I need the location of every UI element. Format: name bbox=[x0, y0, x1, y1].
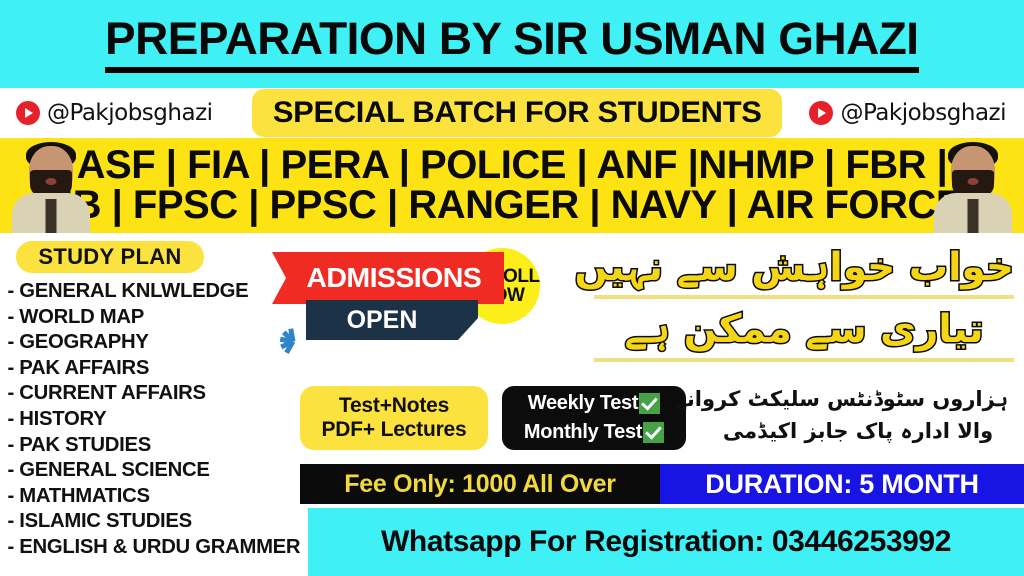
list-item: - GEOGRAPHY bbox=[8, 329, 305, 355]
youtube-icon bbox=[16, 101, 40, 125]
list-item: - CURRENT AFFAIRS bbox=[8, 380, 305, 406]
admissions-open-label: OPEN bbox=[347, 306, 418, 335]
admissions-ribbon: ADMISSIONS bbox=[272, 252, 504, 304]
photo-mouth bbox=[46, 178, 57, 185]
list-item: - ENGLISH & URDU GRAMMER bbox=[8, 534, 305, 560]
exam-list: ASF | FIA | PERA | POLICE | ANF |NHMP | … bbox=[62, 146, 962, 224]
exam-list-band: ASF | FIA | PERA | POLICE | ANF |NHMP | … bbox=[0, 138, 1024, 233]
poster-canvas: PREPARATION BY SIR USMAN GHAZI @Pakjobsg… bbox=[0, 0, 1024, 576]
special-batch-banner: SPECIAL BATCH FOR STUDENTS bbox=[252, 89, 782, 137]
list-item: - HISTORY bbox=[8, 406, 305, 432]
weekly-test-row: Weekly Test bbox=[528, 390, 660, 417]
whatsapp-contact-bar[interactable]: Whatsapp For Registration: 03446253992 bbox=[308, 508, 1024, 576]
urdu-subtext: ہزاروں سٹوڈنٹس سلیکٹ کروانے والا ادارہ پ… bbox=[708, 384, 1008, 447]
urdu-quote-line-2: تیاری سے ممکن ہے bbox=[594, 304, 1014, 361]
materials-line-2: PDF+ Lectures bbox=[321, 418, 466, 442]
urdu-quote-line-1: خواب خواہش سے نہیں bbox=[594, 242, 1014, 299]
photo-tie bbox=[46, 199, 57, 233]
list-item: - WORLD MAP bbox=[8, 304, 305, 330]
instructor-photo-left bbox=[12, 138, 90, 233]
exam-line-1: ASF | FIA | PERA | POLICE | ANF |NHMP | … bbox=[62, 146, 962, 185]
monthly-test-label: Monthly Test bbox=[524, 421, 642, 444]
list-item: - GENERAL KNLWLEDGE bbox=[8, 278, 305, 304]
materials-badge: Test+Notes PDF+ Lectures bbox=[300, 386, 488, 450]
photo-tie bbox=[968, 199, 979, 233]
special-batch-label: SPECIAL BATCH FOR STUDENTS bbox=[273, 96, 762, 130]
exam-line-2: IB | FPSC | PPSC | RANGER | NAVY | AIR F… bbox=[62, 186, 962, 225]
youtube-handle-right[interactable]: @Pakjobsghazi bbox=[809, 94, 1006, 132]
study-plan-label: STUDY PLAN bbox=[38, 244, 181, 270]
youtube-handle-label-left: @Pakjobsghazi bbox=[47, 100, 213, 126]
admissions-banner: ENROLL NOW ADMISSIONS OPEN bbox=[268, 248, 568, 358]
monthly-test-row: Monthly Test bbox=[524, 419, 664, 446]
admissions-open-box: OPEN bbox=[306, 300, 458, 340]
urdu-subtext-line-2: والا ادارہ پاک جابز اکیڈمی bbox=[708, 416, 1008, 448]
photo-mouth bbox=[968, 178, 979, 185]
page-title: PREPARATION BY SIR USMAN GHAZI bbox=[105, 16, 919, 73]
urdu-quote: خواب خواہش سے نہیں تیاری سے ممکن ہے bbox=[594, 242, 1014, 367]
sparkle-icon bbox=[278, 326, 312, 356]
youtube-handle-left[interactable]: @Pakjobsghazi bbox=[16, 94, 213, 132]
duration-label: DURATION: 5 MONTH bbox=[705, 469, 978, 500]
duration-bar: DURATION: 5 MONTH bbox=[660, 464, 1024, 504]
youtube-handle-label-right: @Pakjobsghazi bbox=[840, 100, 1006, 126]
list-item: - PAK STUDIES bbox=[8, 432, 305, 458]
study-plan-badge: STUDY PLAN bbox=[16, 241, 204, 273]
instructor-photo-right bbox=[934, 138, 1012, 233]
materials-line-1: Test+Notes bbox=[339, 394, 449, 418]
list-item: - MATHMATICS bbox=[8, 483, 305, 509]
admissions-label: ADMISSIONS bbox=[294, 262, 481, 294]
youtube-icon bbox=[809, 101, 833, 125]
weekly-test-label: Weekly Test bbox=[528, 392, 638, 415]
test-schedule-box: Weekly Test Monthly Test bbox=[502, 386, 686, 450]
check-icon bbox=[639, 393, 660, 414]
list-item: - GENERAL SCIENCE bbox=[8, 457, 305, 483]
list-item: - ISLAMIC STUDIES bbox=[8, 508, 305, 534]
whatsapp-contact-label: Whatsapp For Registration: 03446253992 bbox=[381, 525, 951, 559]
fee-bar: Fee Only: 1000 All Over bbox=[300, 464, 660, 504]
urdu-subtext-line-1: ہزاروں سٹوڈنٹس سلیکٹ کروانے bbox=[708, 384, 1008, 416]
study-plan-list: - GENERAL KNLWLEDGE - WORLD MAP - GEOGRA… bbox=[6, 278, 306, 560]
header-band: PREPARATION BY SIR USMAN GHAZI bbox=[0, 0, 1024, 88]
list-item: - PAK AFFAIRS bbox=[8, 355, 305, 381]
check-icon bbox=[643, 422, 664, 443]
fee-label: Fee Only: 1000 All Over bbox=[344, 470, 615, 499]
